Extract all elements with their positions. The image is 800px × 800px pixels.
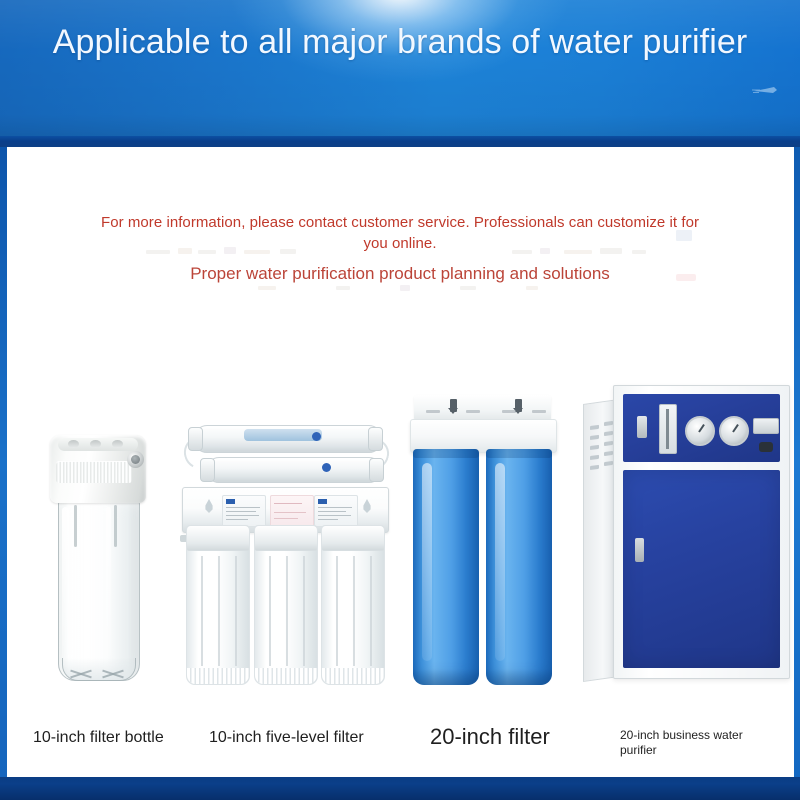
- cartridge-end-cap: [200, 458, 215, 482]
- header-divider-rule: [0, 136, 800, 147]
- pressure-gauge: [685, 416, 715, 446]
- vent-slot: [590, 465, 599, 470]
- vent-slot: [590, 435, 599, 440]
- port-marking: [466, 410, 480, 413]
- mounting-screw: [450, 399, 457, 412]
- cap-port: [112, 440, 123, 448]
- power-switch[interactable]: [637, 416, 647, 438]
- vent-slot: [590, 445, 599, 450]
- port-marking: [532, 410, 546, 413]
- vent-slot: [604, 451, 613, 456]
- bowl-neck-shadow: [486, 449, 552, 458]
- footer-divider-rule: [0, 777, 800, 800]
- vent-slot: [604, 431, 613, 436]
- bracket-label: [314, 495, 358, 527]
- water-jet-icon: [752, 84, 778, 96]
- cabinet-front-body: [613, 385, 790, 679]
- bracket-label: [222, 495, 266, 527]
- promo-copy-line-primary: For more information, please contact cus…: [100, 212, 700, 254]
- housing-flute: [218, 556, 220, 666]
- wall-mount-plate: [414, 395, 551, 421]
- blue-filter-bowl: [413, 449, 479, 685]
- housing-cap: [50, 435, 146, 503]
- vent-slot: [590, 455, 599, 460]
- housing-rib: [74, 505, 77, 547]
- header-banner: Applicable to all major brands of water …: [0, 0, 800, 147]
- filter-housing: [186, 525, 250, 685]
- product-image-ten-inch-five-level-filter[interactable]: [182, 403, 387, 685]
- filter-head-manifold: [410, 419, 557, 453]
- cap-port: [90, 440, 101, 448]
- filter-housing: [254, 525, 318, 685]
- cap-port: [68, 440, 79, 448]
- cartridge-window: [244, 429, 322, 441]
- caption-twenty-inch-business-water-purifier: 20-inch business water purifier: [620, 728, 770, 758]
- cartridge-end-cap: [368, 427, 383, 451]
- housing-highlight: [62, 507, 69, 667]
- housing-highlight-secondary: [106, 507, 111, 657]
- housing-flute: [235, 556, 237, 666]
- caption-ten-inch-five-level-filter: 10-inch five-level filter: [209, 729, 364, 747]
- product-caption-row: 10-inch filter bottle 10-inch five-level…: [0, 700, 800, 770]
- housing-flute: [353, 556, 355, 666]
- bracket-label-certification: [270, 495, 314, 527]
- vent-slot: [590, 425, 599, 430]
- vent-slot: [604, 421, 613, 426]
- quick-connect-fitting: [322, 463, 331, 472]
- caption-ten-inch-filter-bottle: 10-inch filter bottle: [33, 729, 164, 747]
- cartridge-end-cap: [369, 458, 384, 482]
- banner-title: Applicable to all major brands of water …: [0, 22, 800, 62]
- cabinet-door[interactable]: [623, 470, 780, 668]
- housing-foot-ridges: [255, 668, 317, 684]
- port-marking: [502, 410, 516, 413]
- cartridge-end-cap: [188, 427, 203, 451]
- vent-slot: [604, 441, 613, 446]
- housing-foot-ridges: [187, 668, 249, 684]
- cap-pressure-release-button: [127, 451, 144, 468]
- product-image-twenty-inch-filter[interactable]: [410, 395, 555, 685]
- cap-knurled-band: [56, 461, 132, 483]
- product-showcase-row: [0, 355, 800, 685]
- housing-rib: [114, 505, 117, 547]
- housing-flute: [370, 556, 372, 666]
- quick-connect-fitting: [312, 432, 321, 441]
- door-handle[interactable]: [635, 538, 644, 562]
- housing-flute: [201, 556, 203, 666]
- product-image-twenty-inch-business-water-purifier[interactable]: [583, 385, 788, 685]
- filter-housing: [321, 525, 385, 685]
- caption-twenty-inch-filter: 20-inch filter: [430, 724, 550, 750]
- mounting-screw: [515, 399, 522, 412]
- port-marking: [426, 410, 440, 413]
- flow-meter: [659, 404, 677, 454]
- blue-filter-bowl: [486, 449, 552, 685]
- housing-flute: [336, 556, 338, 666]
- product-banner-page: Applicable to all major brands of water …: [0, 0, 800, 800]
- tds-display: [753, 418, 779, 434]
- control-panel: [623, 394, 780, 462]
- product-image-ten-inch-filter-bottle[interactable]: [48, 435, 148, 685]
- inline-cartridge-lower: [206, 457, 382, 483]
- promo-copy-block: For more information, please contact cus…: [100, 212, 700, 285]
- housing-foot-ridges: [322, 668, 384, 684]
- bowl-neck-shadow: [413, 449, 479, 458]
- housing-flute: [303, 556, 305, 666]
- housing-collar: [187, 526, 249, 551]
- vent-slot: [604, 461, 613, 466]
- housing-flute: [269, 556, 271, 666]
- promo-copy-line-secondary: Proper water purification product planni…: [100, 263, 700, 285]
- housing-collar: [322, 526, 384, 551]
- pressure-gauge: [719, 416, 749, 446]
- housing-collar: [255, 526, 317, 551]
- housing-flute: [286, 556, 288, 666]
- control-knob[interactable]: [759, 442, 773, 452]
- clear-housing-body: [58, 499, 140, 681]
